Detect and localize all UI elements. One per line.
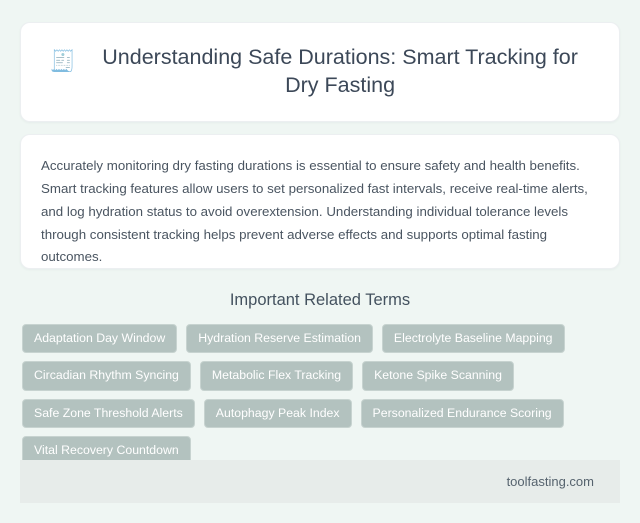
page-title: Understanding Safe Durations: Smart Trac… — [90, 44, 590, 100]
description-card: Accurately monitoring dry fasting durati… — [20, 134, 620, 269]
term-tag[interactable]: Electrolyte Baseline Mapping — [382, 324, 565, 353]
footer-bar: toolfasting.com — [20, 460, 620, 503]
term-tag[interactable]: Metabolic Flex Tracking — [200, 361, 353, 390]
header-card: 🧾 Understanding Safe Durations: Smart Tr… — [20, 22, 620, 122]
header-inner: 🧾 Understanding Safe Durations: Smart Tr… — [47, 44, 593, 100]
term-tag[interactable]: Circadian Rhythm Syncing — [22, 361, 191, 390]
term-tag[interactable]: Adaptation Day Window — [22, 324, 177, 353]
term-tag[interactable]: Ketone Spike Scanning — [362, 361, 514, 390]
related-terms-heading: Important Related Terms — [20, 291, 620, 310]
page-root: 🧾 Understanding Safe Durations: Smart Tr… — [0, 0, 640, 523]
description-paragraph: Accurately monitoring dry fasting durati… — [41, 155, 595, 269]
term-tag[interactable]: Personalized Endurance Scoring — [361, 399, 564, 428]
term-tag[interactable]: Autophagy Peak Index — [204, 399, 352, 428]
term-tag[interactable]: Safe Zone Threshold Alerts — [22, 399, 195, 428]
related-terms-list: Adaptation Day Window Hydration Reserve … — [20, 324, 620, 465]
related-terms-section: Important Related Terms Adaptation Day W… — [20, 291, 620, 465]
footer-site-name: toolfasting.com — [507, 474, 594, 489]
term-tag[interactable]: Hydration Reserve Estimation — [186, 324, 373, 353]
receipt-icon: 🧾 — [50, 49, 76, 75]
